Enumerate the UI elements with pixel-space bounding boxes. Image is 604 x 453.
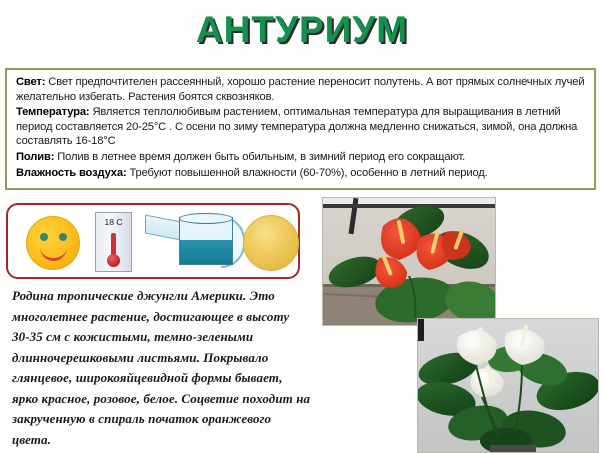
sun-disc-shape [243,215,299,271]
photo-white-anthurium-graphic [418,319,598,452]
description-text: Родина тропические джунгли Америки. Это … [12,286,332,450]
smiley-face-shape [26,216,80,270]
smiley-sun-icon [20,205,82,277]
thermometer-label: 18 C [96,217,131,227]
care-info-box: Свет: Свет предпочтителен рассеянный, хо… [5,68,596,190]
care-label-humidity: Влажность воздуха: [16,167,127,179]
thermometer-bulb [107,254,120,267]
sun-disc-icon [236,205,298,277]
description-line: глянцевое, широкояйцевидной формы бывает… [12,368,332,389]
thermometer-icon: 18 C [88,205,138,277]
watering-can-body [179,217,233,265]
description-line: многолетнее растение, достигающее в высо… [12,307,332,328]
care-label-watering: Полив: [16,151,54,163]
smiley-eye-left-icon [40,233,48,241]
thermometer-panel: 18 C [95,212,132,272]
care-text-temperature: Является теплолюбивым растением, оптимал… [16,106,577,147]
description-line: Родина тропические джунгли Америки. Это [12,286,332,307]
care-line-temperature: Температура: Является теплолюбивым расте… [16,105,586,149]
care-label-light: Свет: [16,76,45,88]
care-icon-strip: 18 C [6,203,300,279]
description-line: закрученную в спираль початок оранжевого [12,409,332,430]
watering-can-lip [179,213,233,224]
care-text-watering: Полив в летнее время должен быть обильны… [54,151,465,163]
photo-red-anthurium [322,197,496,326]
description-line: ярко красное, розовое, белое. Соцветие п… [12,389,332,410]
description-line: цвета. [12,430,332,451]
description-line: 30-35 см с кожистыми, темно-зелеными [12,327,332,348]
photo-white-anthurium [417,318,599,453]
photo-red-anthurium-graphic [323,198,495,325]
care-text-light: Свет предпочтителен рассеянный, хорошо р… [16,76,584,103]
smiley-eye-right-icon [59,233,67,241]
care-label-temperature: Температура: [16,106,89,118]
care-line-humidity: Влажность воздуха: Требуют повышенной вл… [16,166,586,181]
care-line-light: Свет: Свет предпочтителен рассеянный, хо… [16,75,586,104]
smiley-mouth-icon [40,243,67,261]
care-line-watering: Полив: Полив в летнее время должен быть … [16,150,586,165]
watering-can-icon [143,205,243,277]
description-line: длинночерешковыми листьями. Покрывало [12,348,332,369]
care-text-humidity: Требуют повышенной влажности (60-70%), о… [127,167,488,179]
page-title: АНТУРИУМ [0,8,604,52]
